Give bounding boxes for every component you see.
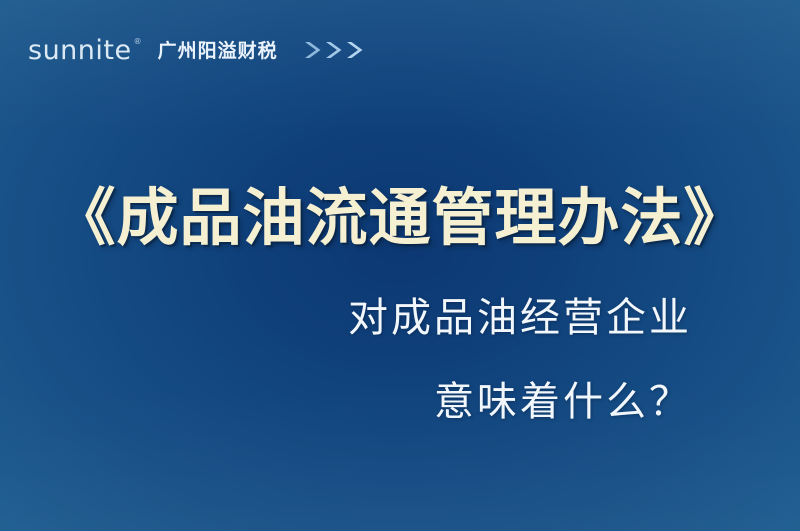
brand-chinese-name: 广州阳溢财税 bbox=[158, 40, 278, 61]
chevron-right-icon bbox=[302, 38, 322, 62]
promo-banner: sunnite ® 广州阳溢财税 《成品油流通管理办法》 对成品油经营企业 意味… bbox=[0, 0, 800, 531]
brand-lockup: sunnite ® bbox=[28, 37, 142, 64]
brand-wordmark: sunnite bbox=[28, 37, 132, 64]
registered-trademark-icon: ® bbox=[134, 38, 142, 46]
brand-logo-bar[interactable]: sunnite ® 广州阳溢财税 bbox=[28, 28, 364, 72]
page-title: 《成品油流通管理办法》 bbox=[0, 183, 800, 252]
headline-block: 《成品油流通管理办法》 对成品油经营企业 意味着什么？ bbox=[0, 0, 800, 531]
subtitle-line-1: 对成品油经营企业 bbox=[0, 294, 800, 342]
chevron-right-icon bbox=[344, 38, 364, 62]
chevron-right-icon bbox=[323, 38, 343, 62]
chevron-right-icon-group bbox=[302, 38, 364, 62]
subtitle-line-2: 意味着什么？ bbox=[0, 378, 800, 426]
